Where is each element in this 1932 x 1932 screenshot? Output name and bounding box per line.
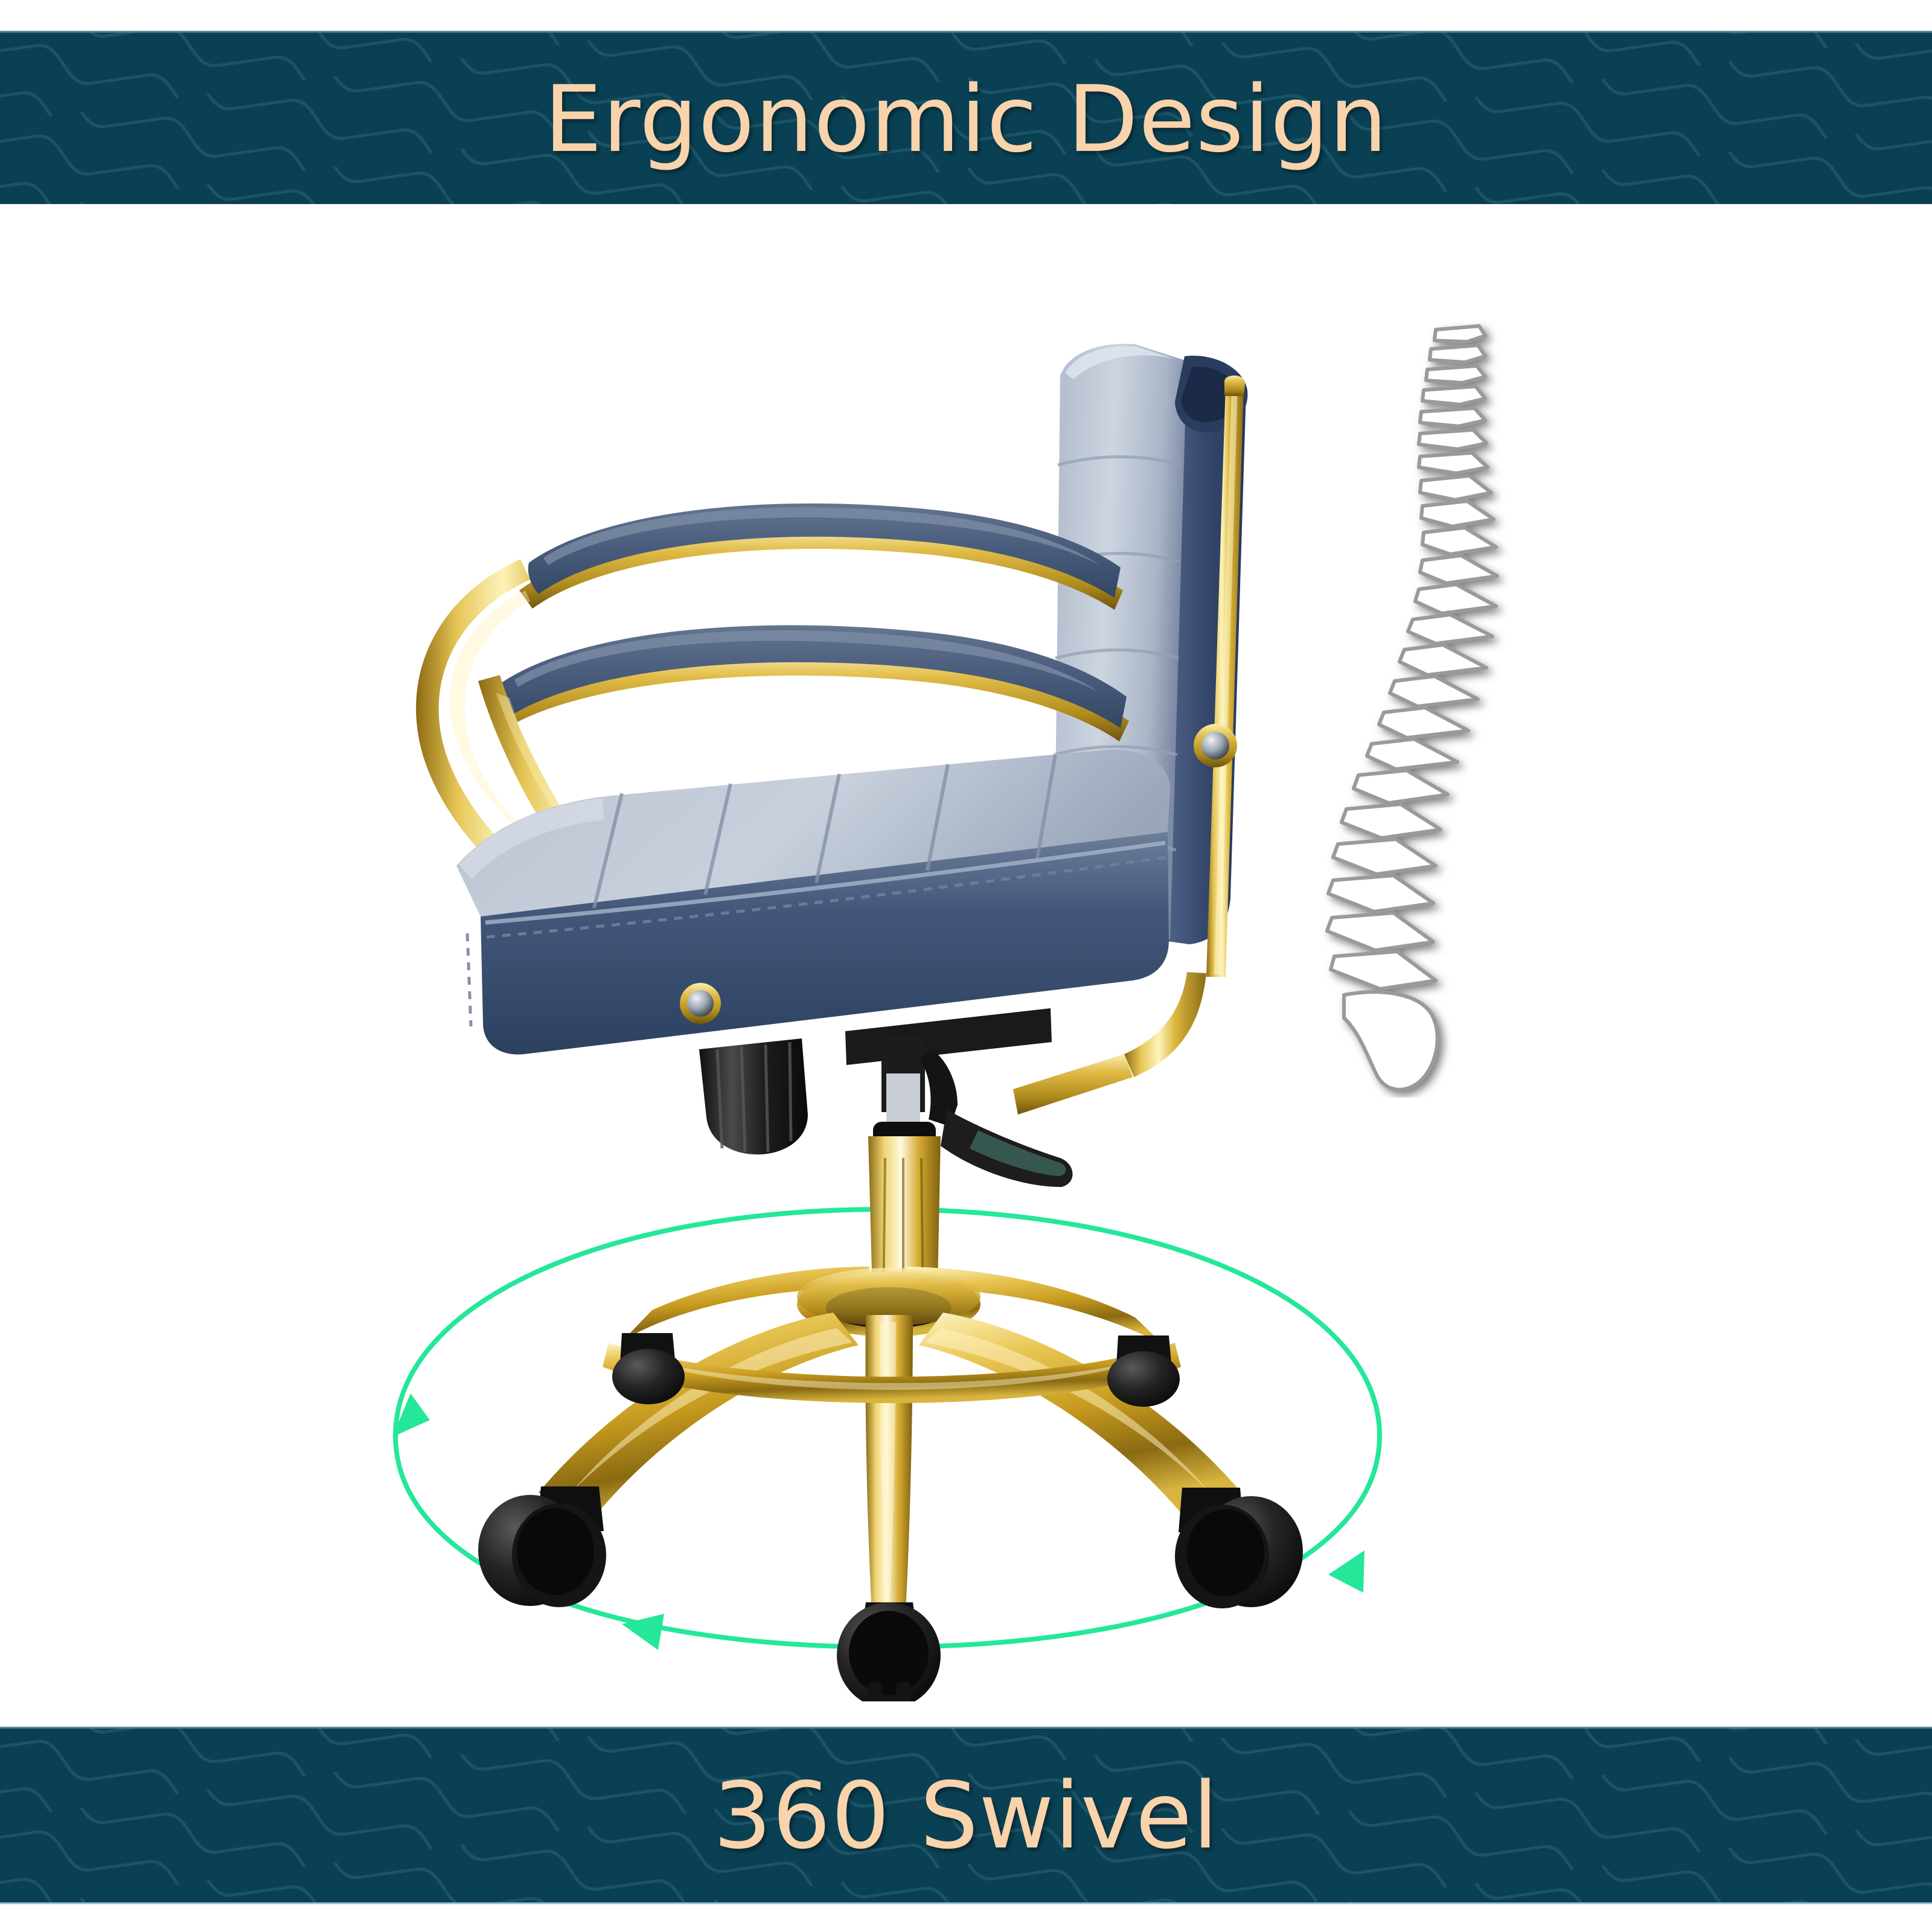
chair-seat-cushion — [456, 750, 1170, 1055]
caster-rear-left — [612, 1333, 685, 1404]
infographic-canvas: Ergonomic Design — [0, 0, 1932, 1932]
armrest-seat-bolt — [680, 983, 721, 1024]
caster-front-right — [1175, 1488, 1303, 1608]
chair-armrest-upper — [519, 504, 1123, 610]
bottom-banner-title: 360 Swivel — [713, 1762, 1218, 1869]
caster-rear-right — [1107, 1335, 1180, 1407]
office-chair-illustration — [338, 132, 1364, 1701]
bottom-banner: 360 Swivel — [0, 1727, 1932, 1904]
caster-front-left — [478, 1486, 606, 1607]
height-adjust-lever — [919, 1049, 1073, 1187]
backrest-frame-bolt — [1194, 724, 1237, 767]
seat-plate — [845, 1008, 1052, 1065]
chair-armrest-lower — [490, 625, 1129, 741]
tension-knob — [699, 1038, 808, 1154]
caster-front-center — [837, 1602, 941, 1701]
product-stage — [0, 204, 1932, 1727]
five-star-base — [539, 1267, 1241, 1612]
